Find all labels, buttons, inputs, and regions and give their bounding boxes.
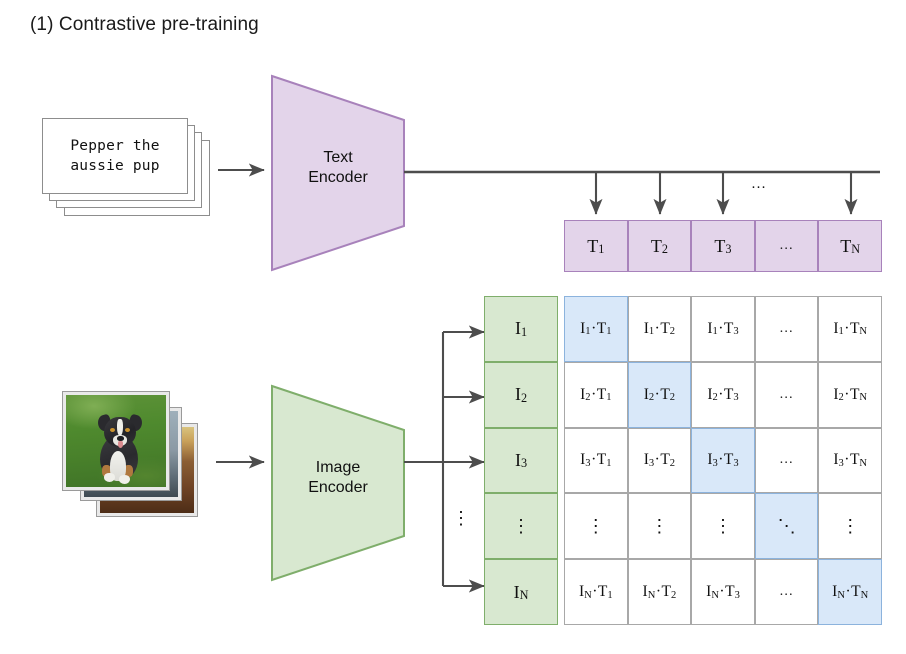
matrix-cell-i2-t3: I2·T3 — [691, 362, 755, 428]
matrix-cell-iN-tN: IN·TN — [818, 559, 882, 625]
text-embedding-cell-N: TN — [818, 220, 882, 272]
matrix-cell-i3-t3: I3·T3 — [691, 428, 755, 494]
matrix-cell-ellipsis-r4-c5: ⋮ — [818, 493, 882, 559]
matrix-cell-i3-tN: I3·TN — [818, 428, 882, 494]
image-embedding-cell-1: I1 — [484, 296, 558, 362]
matrix-cell-ellipsis-r5-c4: … — [755, 559, 819, 625]
text-embedding-cell-1: T1 — [564, 220, 628, 272]
matrix-cell-i2-t2: I2·T2 — [628, 362, 692, 428]
matrix-cell-ellipsis-r2-c4: … — [755, 362, 819, 428]
matrix-cell-i2-tN: I2·TN — [818, 362, 882, 428]
matrix-cell-ellipsis-r4-c3: ⋮ — [691, 493, 755, 559]
image-branch-ellipsis: ⋮ — [452, 508, 468, 529]
matrix-cell-ellipsis-r4-c2: ⋮ — [628, 493, 692, 559]
matrix-cell-i1-t1: I1·T1 — [564, 296, 628, 362]
matrix-cell-iN-t3: IN·T3 — [691, 559, 755, 625]
matrix-cell-diagonal-ellipsis: ⋱ — [755, 493, 819, 559]
image-embedding-ellipsis: ⋮ — [484, 493, 558, 559]
matrix-cell-i1-tN: I1·TN — [818, 296, 882, 362]
matrix-cell-iN-t1: IN·T1 — [564, 559, 628, 625]
image-embedding-cell-3: I3 — [484, 428, 558, 494]
matrix-cell-i3-t2: I3·T2 — [628, 428, 692, 494]
text-embedding-ellipsis: … — [755, 220, 819, 272]
matrix-cell-ellipsis-r4-c1: ⋮ — [564, 493, 628, 559]
matrix-cell-ellipsis-r1-c4: … — [755, 296, 819, 362]
matrix-cell-i1-t3: I1·T3 — [691, 296, 755, 362]
text-embedding-cell-3: T3 — [691, 220, 755, 272]
diagram-canvas: (1) Contrastive pre-training Pepper the … — [0, 0, 906, 654]
matrix-cell-ellipsis-r3-c4: … — [755, 428, 819, 494]
connector-ellipsis: … — [744, 176, 774, 193]
matrix-cell-i1-t2: I1·T2 — [628, 296, 692, 362]
matrix-cell-iN-t2: IN·T2 — [628, 559, 692, 625]
matrix-cell-i3-t1: I3·T1 — [564, 428, 628, 494]
matrix-cell-i2-t1: I2·T1 — [564, 362, 628, 428]
text-embedding-cell-2: T2 — [628, 220, 692, 272]
image-embedding-cell-N: IN — [484, 559, 558, 625]
image-embedding-cell-2: I2 — [484, 362, 558, 428]
